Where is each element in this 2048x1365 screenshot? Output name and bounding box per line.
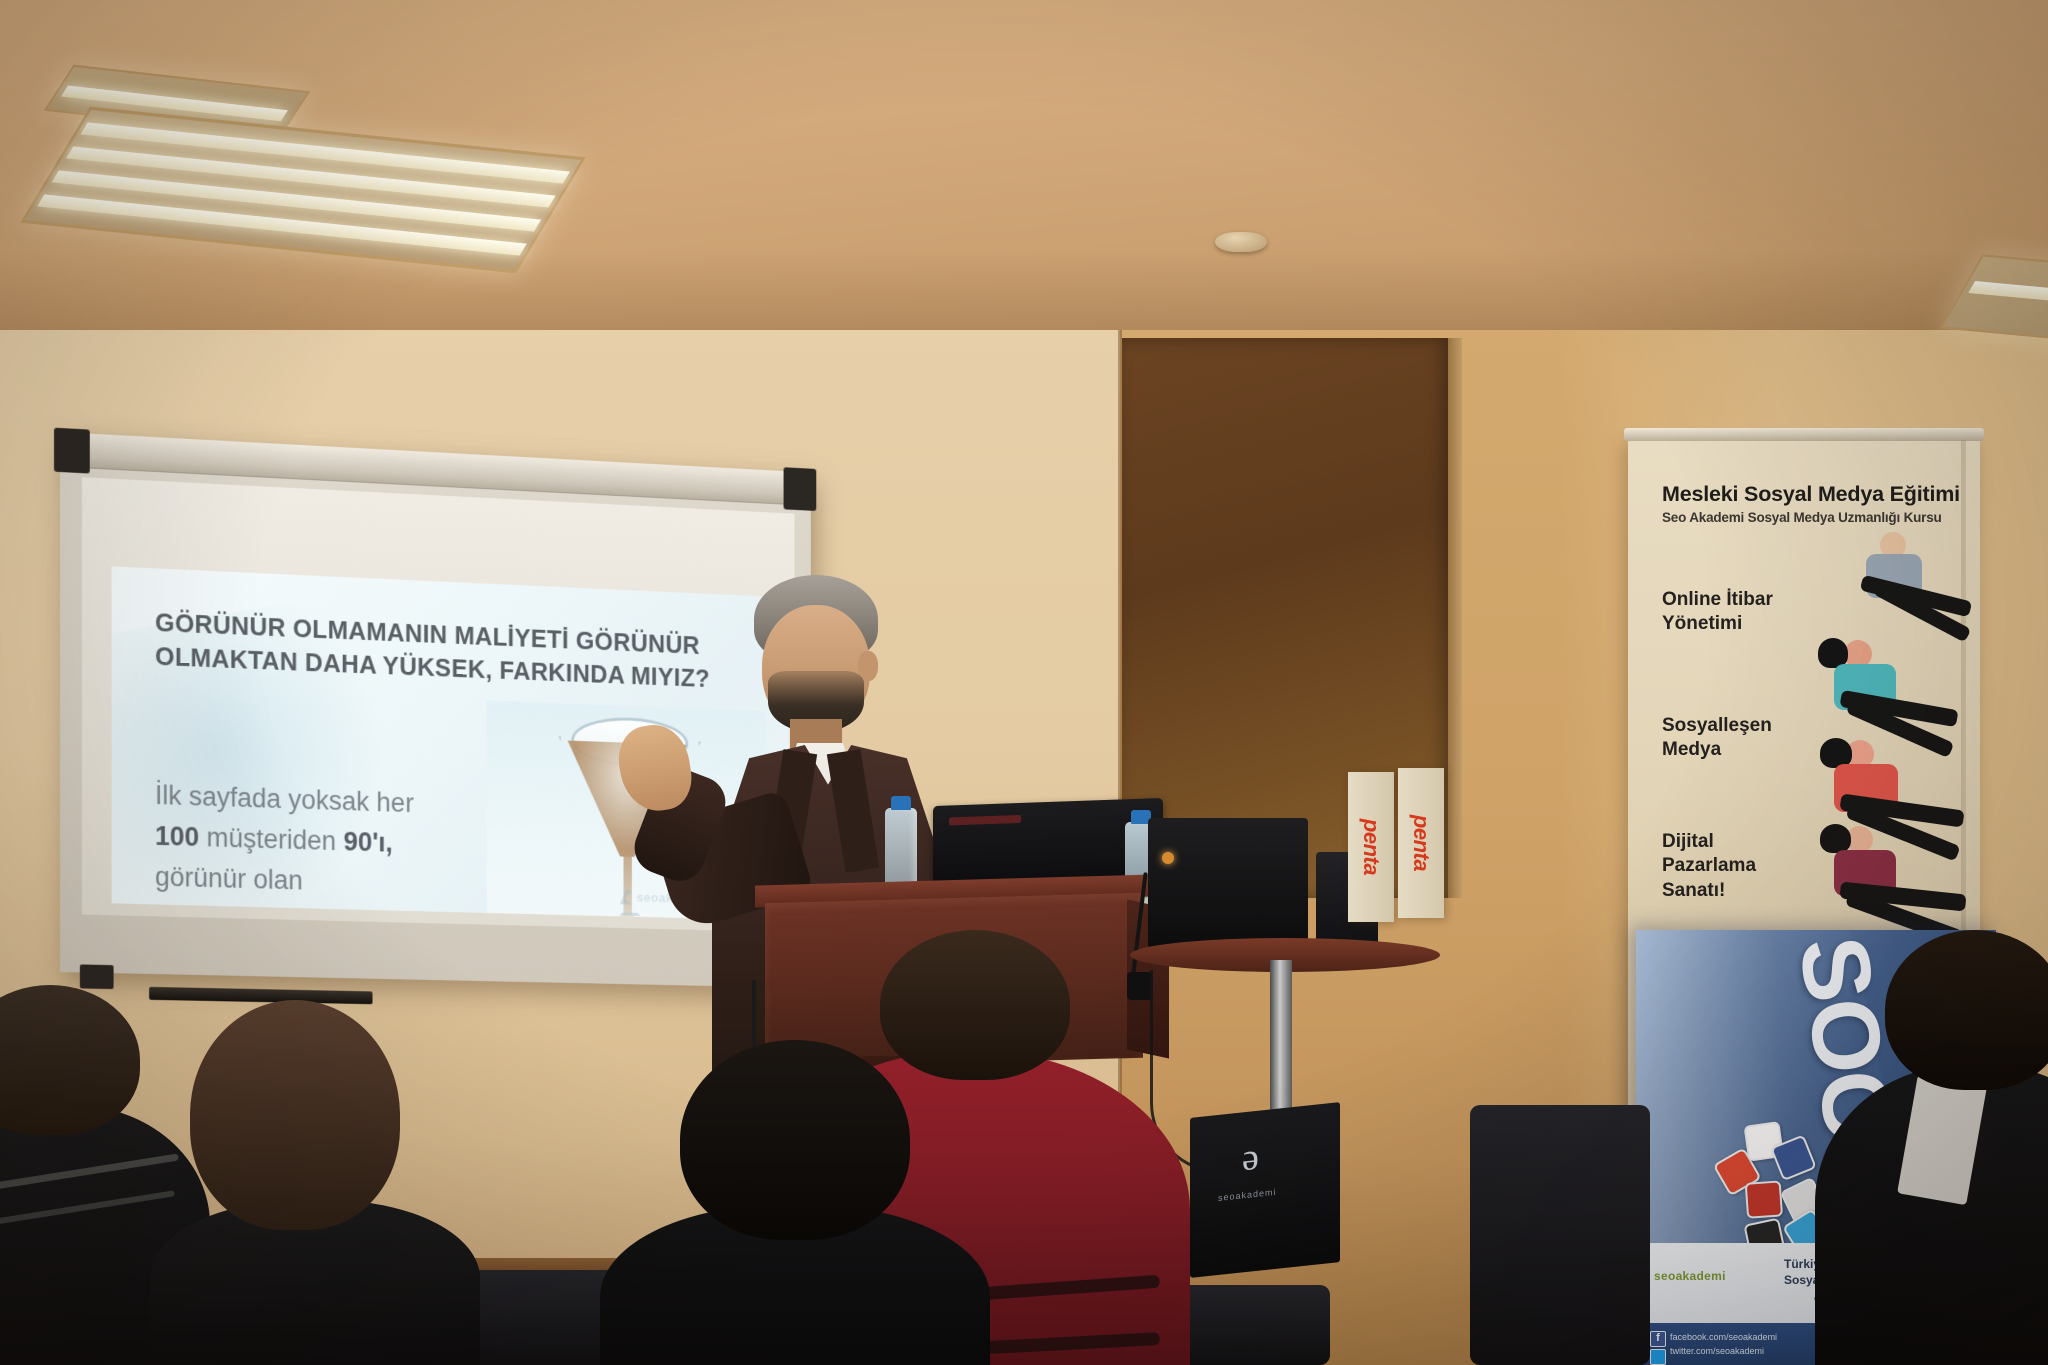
- penta-logo-text: penta: [1358, 819, 1384, 875]
- presentation-room-photo: GÖRÜNÜR OLMAMANIN MALİYETİ GÖRÜNÜR OLMAK…: [0, 0, 2048, 1365]
- smoke-detector: [1215, 232, 1267, 252]
- banner-top-rail: [1624, 428, 1984, 441]
- banner-title: Mesleki Sosyal Medya Eğitimi: [1662, 482, 1964, 507]
- power-led-icon: [1162, 852, 1174, 864]
- banner-item-line: Yönetimi: [1662, 612, 1773, 636]
- audience-right: [1855, 930, 2048, 1365]
- banner-item-online-itibar: Online İtibar Yönetimi: [1662, 588, 1773, 637]
- laptop-screen-glyph: ə: [1242, 1135, 1259, 1181]
- audience-head: [1885, 930, 2048, 1090]
- bottle-cap: [891, 796, 911, 810]
- laptop-brand-mark-icon: [949, 815, 1021, 826]
- audience-head: [0, 985, 140, 1135]
- banner-item-line: Sanatı!: [1662, 879, 1756, 903]
- banner-footer-logo: seoakademi: [1654, 1269, 1726, 1283]
- slide-body-number-90: 90'ı,: [343, 827, 392, 858]
- figure-hair: [1820, 824, 1851, 853]
- penta-box: penta: [1398, 768, 1444, 918]
- banner-social-line: facebook.com/seoakademi: [1670, 1331, 1777, 1345]
- audience-head: [680, 1040, 910, 1240]
- audience-laptop: ə seoakademi: [1190, 1102, 1340, 1278]
- slide-body-mid: müşteriden: [199, 822, 343, 856]
- slide-body-tail: gidiyor: [316, 907, 400, 921]
- laptop-screen-caption: seoakademi: [1218, 1187, 1277, 1203]
- banner-item-line: Sosyalleşen: [1662, 714, 1772, 738]
- twitter-icon: [1650, 1349, 1666, 1365]
- banner-item-dijital-pazarlama: Dijital Pazarlama Sanatı!: [1662, 830, 1756, 903]
- penta-box: penta: [1348, 772, 1394, 922]
- penta-logo-text: penta: [1408, 815, 1434, 871]
- banner-social-line: twitter.com/seoakademi: [1670, 1345, 1777, 1359]
- slide-body-number-100: 100: [155, 821, 199, 852]
- banner-item-line: Online İtibar: [1662, 588, 1773, 612]
- audience-left-2: [170, 1000, 460, 1365]
- banner-item-line: Dijital: [1662, 830, 1756, 854]
- chair: [1470, 1105, 1650, 1365]
- banner-item-sosyallesen-medya: Sosyalleşen Medya: [1662, 714, 1772, 763]
- screen-bracket-right: [784, 467, 817, 511]
- banner-item-line: Pazarlama: [1662, 854, 1756, 878]
- slide-body-emphasis: rakiplerimize: [155, 903, 316, 921]
- banner-people-illustration: [1770, 522, 1976, 952]
- screen-bracket-left: [54, 428, 90, 474]
- audience-head: [190, 1000, 400, 1230]
- slide-body: İlk sayfada yoksak her 100 müşteriden 90…: [155, 775, 473, 921]
- banner-item-line: Medya: [1662, 738, 1772, 762]
- light-tube: [1968, 281, 2048, 313]
- audience-center-front: [600, 1040, 980, 1365]
- banner-social-handles: facebook.com/seoakademi twitter.com/seoa…: [1670, 1331, 1777, 1358]
- youtube-icon: [1745, 1180, 1783, 1218]
- facebook-icon: f: [1650, 1331, 1666, 1347]
- slide-logo-mark-icon: [620, 888, 632, 905]
